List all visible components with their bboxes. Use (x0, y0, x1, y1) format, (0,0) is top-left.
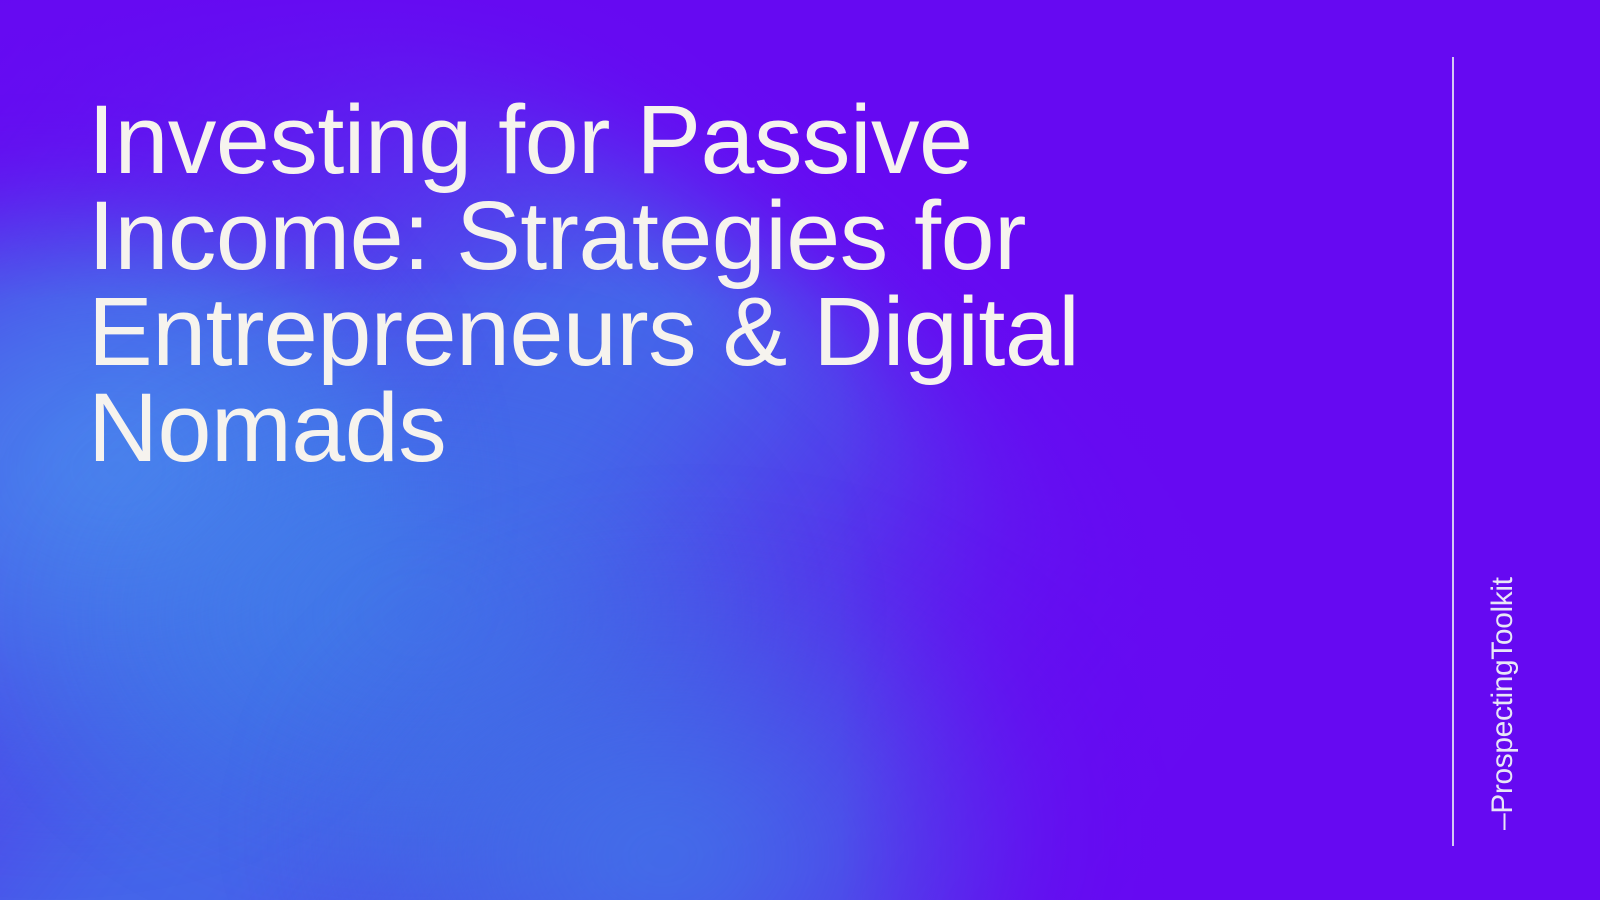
background-base (0, 0, 1600, 900)
vertical-divider-line (1452, 57, 1454, 846)
slide-canvas: Investing for Passive Income: Strategies… (0, 0, 1600, 900)
attribution-label: –ProspectingToolkit (1488, 577, 1518, 830)
